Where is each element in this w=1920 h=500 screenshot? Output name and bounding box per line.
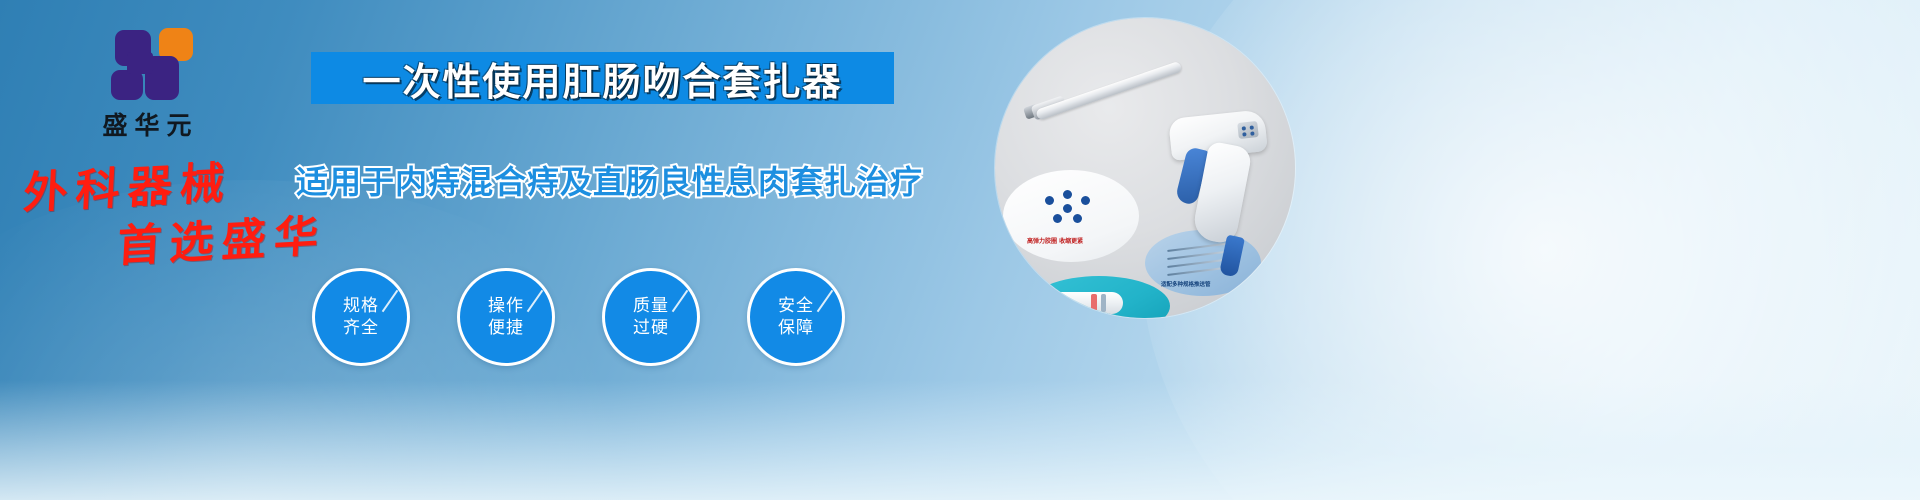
feature-badge-safety[interactable]: 安全 保障 <box>747 268 845 366</box>
rubber-ring-dot <box>1063 204 1072 213</box>
device-button-pad-icon <box>1237 121 1259 139</box>
badge-slash-icon <box>382 290 399 312</box>
tube-band-icon <box>1101 294 1106 312</box>
badge-label-line1: 安全 <box>778 295 814 317</box>
slogan-line-2: 首选盛华 <box>116 200 328 275</box>
feature-badge-quality[interactable]: 质量 过硬 <box>602 268 700 366</box>
feature-badge-specs[interactable]: 规格 齐全 <box>312 268 410 366</box>
badge-label-line2: 便捷 <box>488 317 524 339</box>
rubber-ring-dot <box>1073 214 1082 223</box>
brand-logo[interactable]: 盛华元 <box>62 26 232 142</box>
badge-slash-icon <box>527 290 544 312</box>
rubber-ring-dot <box>1081 196 1090 205</box>
promo-banner: 盛华元 一次性使用肛肠吻合套扎器 外科器械 首选盛华 适用于内痔混合痔及直肠良性… <box>0 0 1920 500</box>
badge-label-line1: 规格 <box>343 295 379 317</box>
logo-square-bottom-left <box>111 70 143 100</box>
product-photo: 高弹力胶圈 收缩更紧 适配多种规格推送管 <box>995 18 1295 318</box>
badge-slash-icon <box>817 290 834 312</box>
headline-title-box: 一次性使用肛肠吻合套扎器 <box>311 52 894 104</box>
rubber-ring-dot <box>1063 190 1072 199</box>
rubber-ring-dot <box>1045 196 1054 205</box>
product-inset-rings <box>1003 170 1139 262</box>
device-barrel <box>1035 61 1182 121</box>
feature-badge-operation[interactable]: 操作 便捷 <box>457 268 555 366</box>
badge-label-line2: 齐全 <box>343 317 379 339</box>
product-caption-rings: 高弹力胶圈 收缩更紧 <box>1027 236 1083 245</box>
logo-square-center <box>127 52 153 74</box>
badge-label-line1: 操作 <box>488 295 524 317</box>
rubber-ring-dot <box>1053 214 1062 223</box>
shenghuayuan-logo-icon <box>101 26 193 102</box>
badge-label-line1: 质量 <box>633 295 669 317</box>
product-caption-needles: 适配多种规格推送管 <box>1161 280 1211 288</box>
brand-name: 盛华元 <box>62 106 232 142</box>
page-title: 一次性使用肛肠吻合套扎器 <box>362 51 842 106</box>
tube-icon <box>1043 292 1123 314</box>
tube-band-icon <box>1091 294 1097 312</box>
badge-label-line2: 过硬 <box>633 317 669 339</box>
feature-badge-list: 规格 齐全 操作 便捷 质量 过硬 安全 保障 <box>312 268 845 366</box>
badge-slash-icon <box>672 290 689 312</box>
bottom-fade <box>0 380 1920 500</box>
badge-label-line2: 保障 <box>778 317 814 339</box>
headline-subtitle: 适用于内痔混合痔及直肠良性息肉套扎治疗 <box>296 157 923 203</box>
